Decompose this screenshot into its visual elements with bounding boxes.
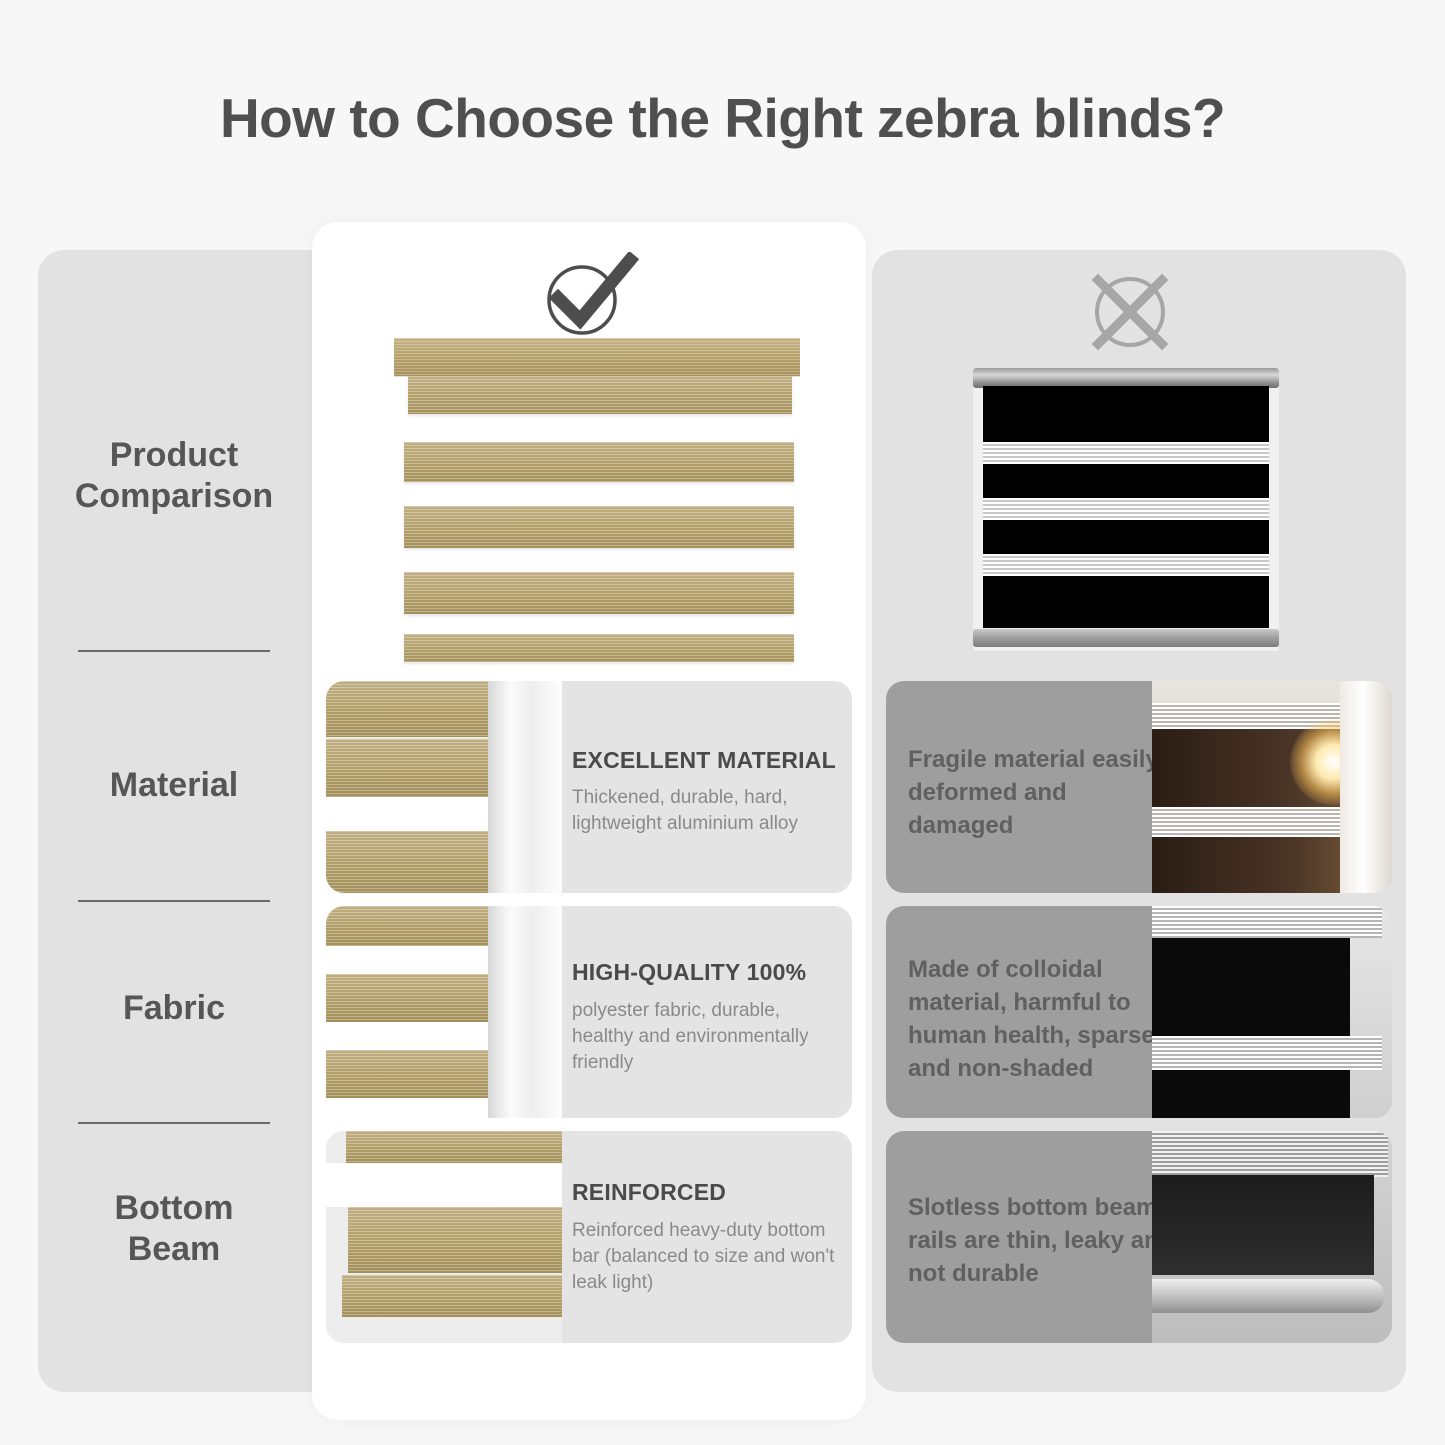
feature-photo-bottom-beam (326, 1131, 562, 1343)
page-title: How to Choose the Right zebra blinds? (0, 86, 1445, 150)
row-label-bottom-beam: Bottom Beam (38, 1188, 310, 1271)
row-label-product-comparison: Product Comparison (38, 435, 310, 518)
blind-headrail (973, 368, 1279, 388)
blind-mesh-stripe (1152, 1131, 1388, 1177)
negative-card-bottom-beam: Slotless bottom beam rails are thin, lea… (886, 1131, 1392, 1343)
row-label-fabric: Fabric (38, 988, 310, 1029)
feature-body: Reinforced heavy-duty bottom bar (balanc… (572, 1218, 836, 1297)
blind-bottom-bar (404, 634, 794, 662)
cross-circle-icon (1086, 268, 1174, 356)
blind-fabric (983, 386, 1269, 628)
feature-card-material: EXCELLENT MATERIAL Thickened, durable, h… (326, 681, 852, 893)
feature-text-fabric: HIGH-QUALITY 100% polyester fabric, dura… (572, 906, 846, 1118)
negative-photo-bottom-beam (1152, 1131, 1392, 1343)
blind-slat (326, 739, 496, 797)
blind-gap (326, 1098, 496, 1118)
row-label-line1: Fabric (38, 988, 310, 1029)
hero-image-black-blind (965, 368, 1287, 651)
feature-body: polyester fabric, durable, healthy and e… (572, 998, 836, 1077)
blind-fabric (1152, 837, 1352, 893)
negative-photo-fabric (1152, 906, 1392, 1118)
negative-photo-material (1152, 681, 1392, 893)
blind-slat (326, 681, 496, 737)
feature-text-bottom-beam: REINFORCED Reinforced heavy-duty bottom … (572, 1131, 846, 1343)
blind-slat (326, 906, 496, 946)
feature-card-fabric: HIGH-QUALITY 100% polyester fabric, dura… (326, 906, 852, 1118)
row-label-line2: Comparison (38, 476, 310, 517)
check-circle-icon (538, 252, 642, 338)
blind-bottom-bar (973, 629, 1279, 647)
row-divider (78, 1122, 270, 1124)
row-label-material: Material (38, 765, 310, 806)
blind-mesh-stripe (983, 554, 1269, 576)
blind-gap (326, 946, 496, 974)
feature-text-material: EXCELLENT MATERIAL Thickened, durable, h… (572, 681, 846, 893)
blind-headrail (394, 338, 800, 376)
blind-slat (326, 1050, 496, 1098)
blind-fabric (1152, 1175, 1374, 1275)
feature-heading: REINFORCED (572, 1179, 842, 1206)
feature-card-bottom-beam: REINFORCED Reinforced heavy-duty bottom … (326, 1131, 852, 1343)
blind-slat (404, 442, 794, 482)
row-label-line1: Product (38, 435, 310, 476)
feature-photo-material (326, 681, 562, 893)
feature-heading: EXCELLENT MATERIAL (572, 747, 842, 774)
hero-image-beige-blind (382, 338, 800, 670)
negative-card-material: Fragile material easily deformed and dam… (886, 681, 1392, 893)
blind-mesh-stripe (1152, 807, 1362, 837)
negative-text: Fragile material easily deformed and dam… (908, 743, 1178, 842)
negative-text: Made of colloidal material, harmful to h… (908, 953, 1178, 1085)
row-label-line1: Material (38, 765, 310, 806)
blind-slat (404, 572, 794, 614)
blind-slat (408, 376, 792, 414)
blind-gap (326, 797, 496, 831)
negative-text: Slotless bottom beam rails are thin, lea… (908, 1191, 1178, 1290)
blind-slat (404, 506, 794, 548)
window-frame (488, 681, 562, 893)
blind-slat (346, 1131, 562, 1163)
blind-slat (326, 974, 496, 1022)
row-label-line2: Beam (38, 1229, 310, 1270)
negative-card-fabric: Made of colloidal material, harmful to h… (886, 906, 1392, 1118)
window-frame (1340, 681, 1392, 893)
blind-mesh-stripe (1152, 1036, 1382, 1070)
blind-bottom-bar (342, 1275, 562, 1317)
blind-gap (326, 1163, 562, 1207)
blind-fabric (1152, 1070, 1350, 1118)
blind-mesh-stripe (983, 442, 1269, 464)
blind-fabric (1152, 938, 1350, 1036)
blind-slat (348, 1207, 562, 1273)
blind-bottom-rail (1152, 1279, 1384, 1313)
blind-frame (973, 368, 1279, 651)
blind-mesh-stripe (1152, 906, 1382, 938)
row-label-line1: Bottom (38, 1188, 310, 1229)
window-frame (488, 906, 562, 1118)
blind-slat (326, 831, 496, 893)
row-divider (78, 650, 270, 652)
feature-body: Thickened, durable, hard, lightweight al… (572, 785, 836, 837)
blind-gap (326, 1022, 496, 1050)
feature-photo-fabric (326, 906, 562, 1118)
row-divider (78, 900, 270, 902)
feature-heading: HIGH-QUALITY 100% (572, 959, 842, 986)
blind-mesh-stripe (983, 498, 1269, 520)
